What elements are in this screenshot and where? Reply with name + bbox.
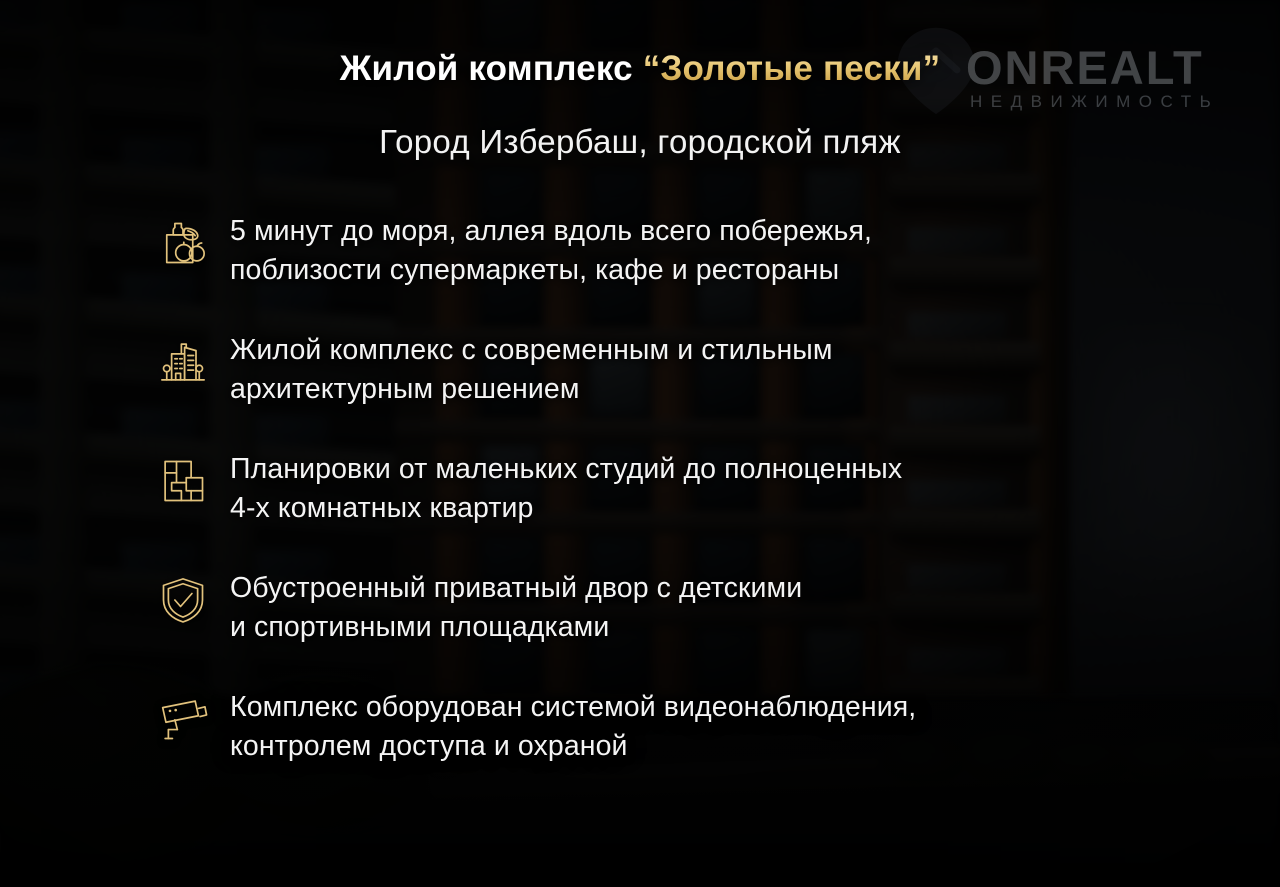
feature-line-2: контролем доступа и охраной [230,727,916,766]
title-prefix: Жилой комплекс [340,49,643,88]
list-item-text: Обустроенный приватный двор с детскими и… [230,565,802,648]
cctv-camera-icon [152,688,214,750]
page-subtitle: Город Избербаш, городской пляж [0,123,1280,161]
feature-line-1: 5 минут до моря, аллея вдоль всего побер… [230,212,872,251]
list-item-text: Жилой комплекс с современным и стильным … [230,327,833,410]
page-title: Жилой комплекс “Золотые пески” [0,49,1280,89]
feature-line-2: и спортивными площадками [230,608,802,647]
feature-line-1: Планировки от маленьких студий до полноц… [230,450,902,489]
list-item: 5 минут до моря, аллея вдоль всего побер… [152,208,1162,291]
grocery-bag-icon [152,212,214,274]
feature-line-1: Жилой комплекс с современным и стильным [230,331,833,370]
promo-slide: ONREALT НЕДВИЖИМОСТЬ Жилой комплекс “Зол… [0,0,1280,887]
list-item-text: 5 минут до моря, аллея вдоль всего побер… [230,208,872,291]
city-buildings-icon [152,331,214,393]
floor-plan-icon [152,450,214,512]
feature-line-2: архитектурным решением [230,370,833,409]
list-item-text: Комплекс оборудован системой видеонаблюд… [230,684,916,767]
content-layer: Жилой комплекс “Золотые пески” Город Изб… [0,0,1280,887]
feature-list: 5 минут до моря, аллея вдоль всего побер… [152,208,1162,767]
shield-check-icon [152,569,214,631]
title-highlight: “Золотые пески” [643,49,941,88]
list-item: Жилой комплекс с современным и стильным … [152,327,1162,410]
feature-line-2: 4-х комнатных квартир [230,489,902,528]
feature-line-1: Комплекс оборудован системой видеонаблюд… [230,688,916,727]
feature-line-2: поблизости супермаркеты, кафе и ресторан… [230,251,872,290]
list-item-text: Планировки от маленьких студий до полноц… [230,446,902,529]
list-item: Комплекс оборудован системой видеонаблюд… [152,684,1162,767]
list-item: Обустроенный приватный двор с детскими и… [152,565,1162,648]
feature-line-1: Обустроенный приватный двор с детскими [230,569,802,608]
list-item: Планировки от маленьких студий до полноц… [152,446,1162,529]
